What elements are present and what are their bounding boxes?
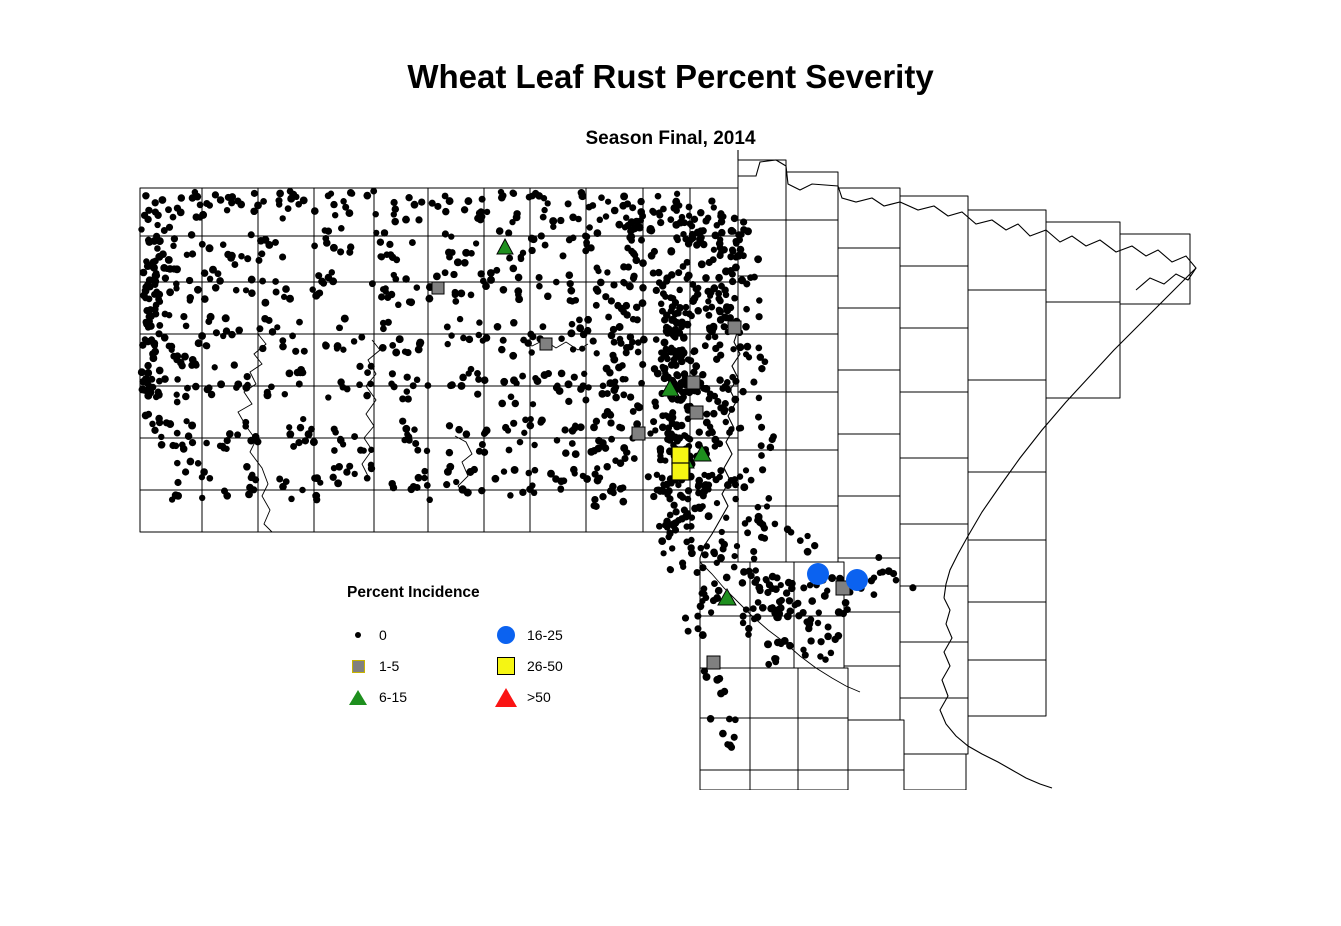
- survey-point-zero: [426, 497, 433, 504]
- survey-point-zero: [452, 291, 459, 298]
- survey-point-zero: [757, 587, 764, 594]
- survey-point-zero: [816, 609, 822, 615]
- legend-item-gt50[interactable]: >50: [492, 686, 551, 708]
- survey-point-zero: [663, 373, 671, 381]
- survey-point-zero: [502, 424, 509, 431]
- survey-point-zero: [199, 241, 206, 248]
- survey-point-zero: [171, 235, 178, 242]
- survey-point-zero: [758, 365, 765, 372]
- survey-point-zero: [672, 221, 680, 229]
- survey-point-zero: [707, 293, 713, 299]
- survey-point-zero: [279, 337, 286, 344]
- survey-point-zero: [653, 336, 660, 343]
- survey-point-zero: [415, 474, 423, 482]
- survey-point-zero: [742, 323, 750, 331]
- survey-point-zero: [717, 210, 724, 217]
- survey-point-zero: [156, 237, 164, 245]
- survey-point-zero: [656, 523, 663, 530]
- survey-point-zero: [712, 443, 719, 450]
- green-triangle-icon: [344, 690, 372, 705]
- survey-point-zero: [162, 311, 169, 318]
- survey-point-zero: [624, 311, 631, 318]
- survey-point-zero: [700, 492, 707, 499]
- survey-point-zero: [581, 371, 587, 377]
- survey-point-zero: [369, 280, 376, 287]
- survey-point-zero: [368, 447, 374, 453]
- survey-point-zero: [144, 369, 152, 377]
- survey-point-zero: [620, 192, 628, 200]
- survey-point-zero: [322, 227, 328, 233]
- survey-point-zero: [405, 395, 412, 402]
- survey-point-zero: [381, 229, 388, 236]
- survey-point-zero: [452, 298, 459, 305]
- survey-point-zero: [367, 381, 374, 388]
- survey-point-zero: [773, 655, 780, 662]
- survey-point-zero: [424, 482, 431, 489]
- survey-point-zero: [685, 487, 692, 494]
- survey-point-zero: [627, 333, 634, 340]
- survey-point-zero: [771, 609, 779, 617]
- survey-point-zero: [391, 218, 399, 226]
- survey-point-zero: [154, 212, 161, 219]
- survey-point-zero: [248, 231, 255, 238]
- survey-point-zero: [309, 286, 315, 292]
- survey-point-zero: [794, 600, 801, 607]
- survey-point-zero: [708, 304, 715, 311]
- survey-point-zero: [466, 370, 472, 376]
- survey-point-zero: [233, 287, 240, 294]
- survey-point-zero: [248, 276, 256, 284]
- survey-point-zero: [824, 633, 832, 641]
- survey-point-zero: [476, 332, 483, 339]
- survey-point-zero: [545, 200, 551, 206]
- survey-point-zero: [212, 284, 220, 292]
- survey-point-zero: [561, 426, 568, 433]
- survey-point-zero: [787, 608, 794, 615]
- survey-point-zero: [487, 276, 495, 284]
- survey-point-zero: [391, 383, 398, 390]
- survey-point-zero: [698, 260, 706, 268]
- survey-point-zero: [325, 274, 333, 282]
- survey-point-zero: [633, 304, 640, 311]
- survey-point-zero: [743, 606, 750, 613]
- survey-point-zero: [660, 481, 666, 487]
- survey-point-zero: [285, 205, 292, 212]
- survey-point-zero: [660, 550, 666, 556]
- survey-point-zero: [364, 475, 371, 482]
- survey-point-zero: [609, 352, 616, 359]
- survey-point-zero: [740, 252, 747, 259]
- survey-point-zero: [402, 349, 408, 355]
- survey-point-zero: [166, 288, 174, 296]
- survey-point-zero: [153, 272, 160, 279]
- survey-point-zero: [340, 198, 346, 204]
- survey-point-zero: [515, 292, 522, 299]
- survey-point-zero: [501, 468, 507, 474]
- survey-point-zero: [450, 271, 457, 278]
- survey-point-zero: [612, 394, 620, 402]
- survey-point-zero: [611, 339, 618, 346]
- survey-point-zero: [740, 613, 747, 620]
- survey-point-zero: [711, 580, 718, 587]
- survey-point-zero: [890, 570, 897, 577]
- survey-point-zero: [220, 241, 227, 248]
- survey-point-zero: [261, 299, 269, 307]
- survey-point-zero: [758, 534, 765, 541]
- survey-point-zero: [565, 271, 573, 279]
- survey-point-zero: [256, 325, 263, 332]
- survey-point-zero: [672, 310, 679, 317]
- survey-point-zero: [603, 463, 610, 470]
- survey-point-zero: [280, 215, 286, 221]
- survey-point-zero: [305, 430, 313, 438]
- survey-point-zero: [272, 278, 279, 285]
- survey-point-zero: [756, 395, 762, 401]
- survey-point-zero: [227, 254, 235, 262]
- minnesota-counties: [700, 150, 1196, 790]
- survey-point-zero: [616, 323, 624, 331]
- survey-point-zero: [377, 239, 384, 246]
- survey-point-zero: [571, 374, 578, 381]
- survey-point-zero: [276, 476, 283, 483]
- survey-point-zero: [657, 445, 665, 453]
- survey-point-zero: [716, 675, 723, 682]
- survey-point-zero: [157, 298, 163, 304]
- survey-point-zero: [480, 337, 486, 343]
- survey-point-zero: [498, 346, 506, 354]
- survey-point-zero: [411, 201, 419, 209]
- survey-point-zero: [560, 477, 567, 484]
- survey-point-zero: [675, 269, 682, 276]
- survey-point-zero: [183, 323, 190, 330]
- survey-point-zero: [805, 625, 812, 632]
- survey-point-zero: [382, 285, 388, 291]
- survey-point-zero: [699, 564, 706, 571]
- survey-point-zero: [519, 373, 526, 380]
- survey-point-zero: [221, 487, 228, 494]
- survey-point-zero: [661, 316, 668, 323]
- survey-point-zero: [692, 362, 700, 370]
- survey-point-zero: [293, 194, 299, 200]
- survey-point-zero: [710, 410, 718, 418]
- legend-label-1-5: 1-5: [379, 658, 399, 674]
- survey-point-zero: [638, 380, 645, 387]
- survey-point-zero: [542, 242, 549, 249]
- survey-point-zero: [893, 577, 900, 584]
- north-dakota-counties: [140, 188, 738, 532]
- survey-point-zero: [525, 470, 532, 477]
- survey-point-zero: [567, 287, 575, 295]
- survey-point-zero: [572, 470, 578, 476]
- survey-point-zero: [331, 447, 338, 454]
- survey-point-zero: [311, 207, 319, 215]
- survey-point-zero: [667, 512, 674, 519]
- survey-point-zero: [774, 639, 782, 647]
- survey-point-zero: [663, 412, 669, 418]
- survey-point-zero: [541, 371, 549, 379]
- survey-point-zero: [608, 297, 615, 304]
- survey-point-zero: [468, 250, 475, 257]
- survey-point-zero: [673, 327, 680, 334]
- survey-point-zero: [286, 424, 292, 430]
- survey-point-zero: [179, 362, 186, 369]
- survey-point-zero: [461, 206, 468, 213]
- survey-point-zero: [748, 477, 755, 484]
- survey-point-zero: [454, 258, 462, 266]
- survey-point-zero: [351, 338, 358, 345]
- survey-point-zero: [711, 247, 717, 253]
- survey-point-zero: [706, 395, 713, 402]
- survey-point-zero: [784, 526, 792, 534]
- survey-point-zero: [761, 525, 768, 532]
- survey-point-zero: [144, 362, 151, 369]
- survey-point-zero: [429, 200, 436, 207]
- survey-point-zero: [406, 298, 413, 305]
- survey-point-zero: [667, 566, 674, 573]
- survey-point-zero: [651, 365, 658, 372]
- survey-point-zero: [424, 382, 431, 389]
- survey-point-zero: [769, 436, 776, 443]
- survey-point-zero: [165, 206, 172, 213]
- legend-label-16-25: 16-25: [527, 627, 563, 643]
- survey-point-zero: [231, 261, 238, 268]
- survey-point-zero: [550, 224, 556, 230]
- survey-point-zero: [494, 323, 502, 331]
- survey-point-zero: [758, 442, 765, 449]
- survey-point-zero: [593, 418, 600, 425]
- survey-point-zero: [703, 594, 710, 601]
- survey-point-zero: [197, 214, 203, 220]
- survey-point-zero: [817, 653, 823, 659]
- us-states-map: [0, 150, 1341, 790]
- survey-point-zero: [759, 466, 766, 473]
- survey-point-zero: [702, 274, 710, 282]
- survey-point-zero: [424, 448, 430, 454]
- survey-point-zero: [587, 244, 594, 251]
- survey-point-zero: [807, 637, 814, 644]
- survey-point-zero: [378, 293, 385, 300]
- survey-point-zero: [786, 597, 793, 604]
- survey-point-zero: [723, 574, 731, 582]
- survey-point-zero: [414, 447, 421, 454]
- survey-point-zero: [165, 256, 173, 264]
- survey-point-zero: [474, 215, 481, 222]
- survey-point-zero: [185, 432, 193, 440]
- survey-point-zero: [335, 463, 343, 471]
- survey-point-zero: [765, 495, 772, 502]
- survey-point-zero: [688, 313, 695, 320]
- survey-point-zero: [521, 430, 527, 436]
- survey-point-zero: [631, 225, 639, 233]
- survey-point-zero: [828, 650, 835, 657]
- gray-square-icon: [344, 660, 372, 673]
- survey-point-zero: [608, 332, 616, 340]
- survey-point-zero: [755, 504, 762, 511]
- survey-point-zero: [712, 232, 720, 240]
- survey-point-zero: [448, 332, 454, 338]
- survey-point-zero: [751, 274, 758, 281]
- survey-point-zero: [139, 378, 146, 385]
- survey-point-zero: [138, 226, 144, 232]
- survey-point-zero: [717, 297, 724, 304]
- survey-point-zero: [209, 266, 217, 274]
- survey-point-zero: [158, 196, 166, 204]
- survey-point-zero: [182, 393, 190, 401]
- survey-point-zero: [582, 232, 589, 239]
- survey-point-zero: [713, 356, 720, 363]
- survey-point-zero: [755, 345, 762, 352]
- legend-label-0: 0: [379, 627, 387, 643]
- survey-point-zero: [718, 283, 725, 290]
- legend-item-26-50[interactable]: 26-50: [492, 655, 563, 677]
- survey-point-zero: [653, 287, 660, 294]
- survey-point-zero: [558, 486, 564, 492]
- yellow-square-icon: [492, 657, 520, 675]
- survey-point-zero: [322, 341, 328, 347]
- survey-point-zero: [832, 636, 839, 643]
- survey-point-zero: [510, 376, 518, 384]
- survey-point-zero: [174, 460, 181, 467]
- survey-point-zero: [464, 489, 472, 497]
- survey-point-zero: [637, 198, 644, 205]
- survey-point-zero: [198, 332, 206, 340]
- survey-point-zero: [744, 529, 751, 536]
- survey-point-zero: [219, 443, 226, 450]
- survey-point-zero: [785, 579, 793, 587]
- survey-point-zero: [379, 344, 387, 352]
- survey-point-zero: [174, 430, 181, 437]
- survey-point-zero: [569, 440, 576, 447]
- survey-point-zero: [565, 380, 573, 388]
- survey-point-zero: [626, 282, 634, 290]
- survey-point-zero: [657, 457, 663, 463]
- survey-point-zero: [399, 418, 406, 425]
- survey-point-zero: [189, 439, 196, 446]
- survey-point-zero: [622, 302, 630, 310]
- survey-point-zero: [755, 599, 762, 606]
- survey-point-zero: [654, 472, 660, 478]
- survey-point-zero: [640, 336, 648, 344]
- survey-point-zero: [337, 325, 343, 331]
- survey-point-zero: [453, 479, 459, 485]
- survey-point-zero: [276, 190, 284, 198]
- survey-point-zero: [750, 379, 757, 386]
- survey-point-zero: [665, 325, 673, 333]
- survey-point-zero: [532, 467, 539, 474]
- survey-point-zero: [647, 227, 655, 235]
- survey-point-zero: [711, 436, 719, 444]
- legend-item-1-5[interactable]: 1-5: [344, 655, 399, 677]
- survey-point-zero: [815, 620, 821, 626]
- survey-point-zero: [170, 214, 177, 221]
- survey-point-zero: [334, 342, 342, 350]
- survey-point-zero: [673, 371, 680, 378]
- survey-point-zero: [661, 339, 669, 347]
- survey-point-zero: [174, 399, 181, 406]
- legend-item-6-15[interactable]: 6-15: [344, 686, 407, 708]
- survey-point-zero: [655, 269, 662, 276]
- survey-point-zero: [505, 229, 512, 236]
- survey-point-zero: [237, 201, 245, 209]
- survey-point-zero: [603, 213, 610, 220]
- legend-label-6-15: 6-15: [379, 689, 407, 705]
- legend-item-16-25[interactable]: 16-25: [492, 624, 563, 646]
- survey-point-zero: [197, 202, 204, 209]
- survey-point-zero: [669, 545, 675, 551]
- survey-point-zero: [677, 492, 684, 499]
- survey-point-zero: [620, 444, 628, 452]
- survey-point-zero: [325, 394, 331, 400]
- survey-point-zero: [683, 304, 690, 311]
- survey-point-zero: [356, 381, 363, 388]
- survey-point-zero: [825, 624, 832, 631]
- survey-point-zero: [755, 414, 762, 421]
- survey-point-zero: [404, 374, 411, 381]
- survey-point-zero: [554, 383, 561, 390]
- survey-point-zero: [479, 441, 486, 448]
- survey-point-zero: [709, 429, 716, 436]
- survey-point-zero: [714, 398, 721, 405]
- survey-point-zero: [392, 205, 399, 212]
- survey-point-zero: [151, 348, 159, 356]
- survey-point-zero: [610, 490, 616, 496]
- survey-point-zero: [425, 295, 433, 303]
- survey-point-zero: [627, 343, 634, 350]
- survey-point-zero: [648, 252, 656, 260]
- survey-point-zero: [536, 274, 543, 281]
- survey-point-zero: [500, 286, 508, 294]
- survey-point-zero: [575, 216, 582, 223]
- survey-point-zero: [481, 449, 488, 456]
- survey-point-zero: [248, 289, 256, 297]
- survey-point-zero: [396, 335, 404, 343]
- survey-point-zero: [474, 391, 481, 398]
- survey-point-zero: [650, 493, 657, 500]
- survey-point-zero: [509, 265, 517, 273]
- survey-point-zero: [334, 479, 342, 487]
- survey-point-zero: [476, 319, 482, 325]
- survey-point-zero: [713, 476, 720, 483]
- survey-point-zero: [323, 239, 331, 247]
- survey-point-zero: [732, 496, 739, 503]
- survey-point-zero: [774, 574, 781, 581]
- survey-point-zero: [256, 257, 263, 264]
- survey-point-zero: [740, 226, 747, 233]
- survey-point-zero: [875, 554, 882, 561]
- survey-point-zero: [743, 467, 749, 473]
- survey-point-zero: [455, 426, 463, 434]
- survey-point-zero: [694, 569, 701, 576]
- survey-point-zero: [715, 587, 723, 595]
- survey-point-zero: [576, 317, 583, 324]
- survey-point-zero: [558, 335, 565, 342]
- survey-point-zero: [242, 419, 249, 426]
- survey-point-zero: [414, 284, 420, 290]
- survey-point-zero: [193, 362, 200, 369]
- survey-point-zero: [732, 378, 739, 385]
- survey-point-zero: [481, 430, 488, 437]
- survey-point-zero: [694, 307, 702, 315]
- survey-point-zero: [405, 433, 412, 440]
- survey-point-zero: [414, 377, 421, 384]
- survey-point-zero: [704, 543, 710, 549]
- survey-point-zero: [639, 284, 646, 291]
- survey-point-zero: [189, 250, 196, 257]
- survey-point-zero: [265, 241, 273, 249]
- survey-point-zero: [200, 468, 208, 476]
- survey-point-zero: [159, 250, 167, 258]
- legend-item-0[interactable]: 0: [344, 624, 387, 646]
